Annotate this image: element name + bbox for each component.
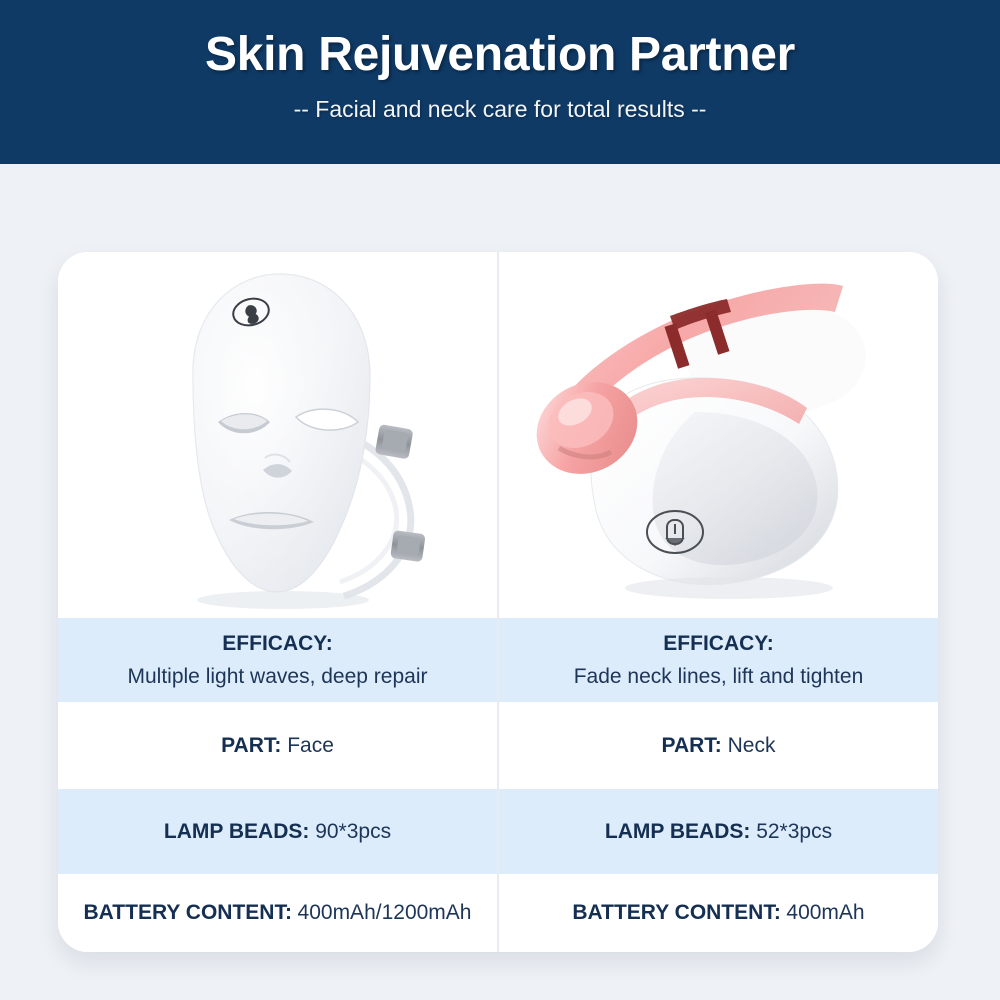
product-infographic: Skin Rejuvenation Partner -- Facial and …: [0, 0, 1000, 1000]
product-photo-neck: [499, 252, 938, 618]
spec-value-part: Neck: [728, 734, 776, 757]
led-face-mask-photo: [58, 252, 497, 618]
spec-value-lamp-beads: 90*3pcs: [315, 820, 391, 843]
spec-value-lamp-beads: 52*3pcs: [756, 820, 832, 843]
product-column-neck: EFFICACY: Fade neck lines, lift and tigh…: [499, 252, 938, 952]
spec-label-efficacy: EFFICACY:: [663, 630, 773, 658]
spec-value-battery: 400mAh/1200mAh: [298, 901, 472, 924]
spec-value-efficacy: Multiple light waves, deep repair: [128, 663, 428, 691]
spec-value-part: Face: [287, 734, 334, 757]
spec-label-part: PART:: [662, 734, 722, 757]
product-photo-face: [58, 252, 497, 618]
spec-list-face: EFFICACY: Multiple light waves, deep rep…: [58, 618, 497, 952]
spec-label-efficacy: EFFICACY:: [222, 630, 332, 658]
product-column-face: EFFICACY: Multiple light waves, deep rep…: [58, 252, 497, 952]
spec-row-battery: BATTERY CONTENT: 400mAh: [499, 874, 938, 952]
page-subtitle: -- Facial and neck care for total result…: [294, 94, 707, 124]
comparison-card: EFFICACY: Multiple light waves, deep rep…: [58, 252, 938, 952]
spec-label-battery: BATTERY CONTENT:: [84, 901, 292, 924]
spec-list-neck: EFFICACY: Fade neck lines, lift and tigh…: [499, 618, 938, 952]
spec-label-lamp-beads: LAMP BEADS:: [164, 820, 309, 843]
spec-label-battery: BATTERY CONTENT:: [572, 901, 780, 924]
spec-row-lamp-beads: LAMP BEADS: 90*3pcs: [58, 789, 497, 874]
spec-row-part: PART: Face: [58, 702, 497, 789]
spec-label-lamp-beads: LAMP BEADS:: [605, 820, 750, 843]
spec-row-efficacy: EFFICACY: Fade neck lines, lift and tigh…: [499, 618, 938, 702]
spec-row-lamp-beads: LAMP BEADS: 52*3pcs: [499, 789, 938, 874]
spec-row-efficacy: EFFICACY: Multiple light waves, deep rep…: [58, 618, 497, 702]
spec-row-battery: BATTERY CONTENT: 400mAh/1200mAh: [58, 874, 497, 952]
spec-value-battery: 400mAh: [786, 901, 864, 924]
spec-label-part: PART:: [221, 734, 281, 757]
header-banner: Skin Rejuvenation Partner -- Facial and …: [0, 0, 1000, 164]
page-title: Skin Rejuvenation Partner: [205, 26, 795, 84]
spec-row-part: PART: Neck: [499, 702, 938, 789]
led-neck-device-photo: [499, 252, 938, 618]
spec-value-efficacy: Fade neck lines, lift and tighten: [574, 663, 864, 691]
